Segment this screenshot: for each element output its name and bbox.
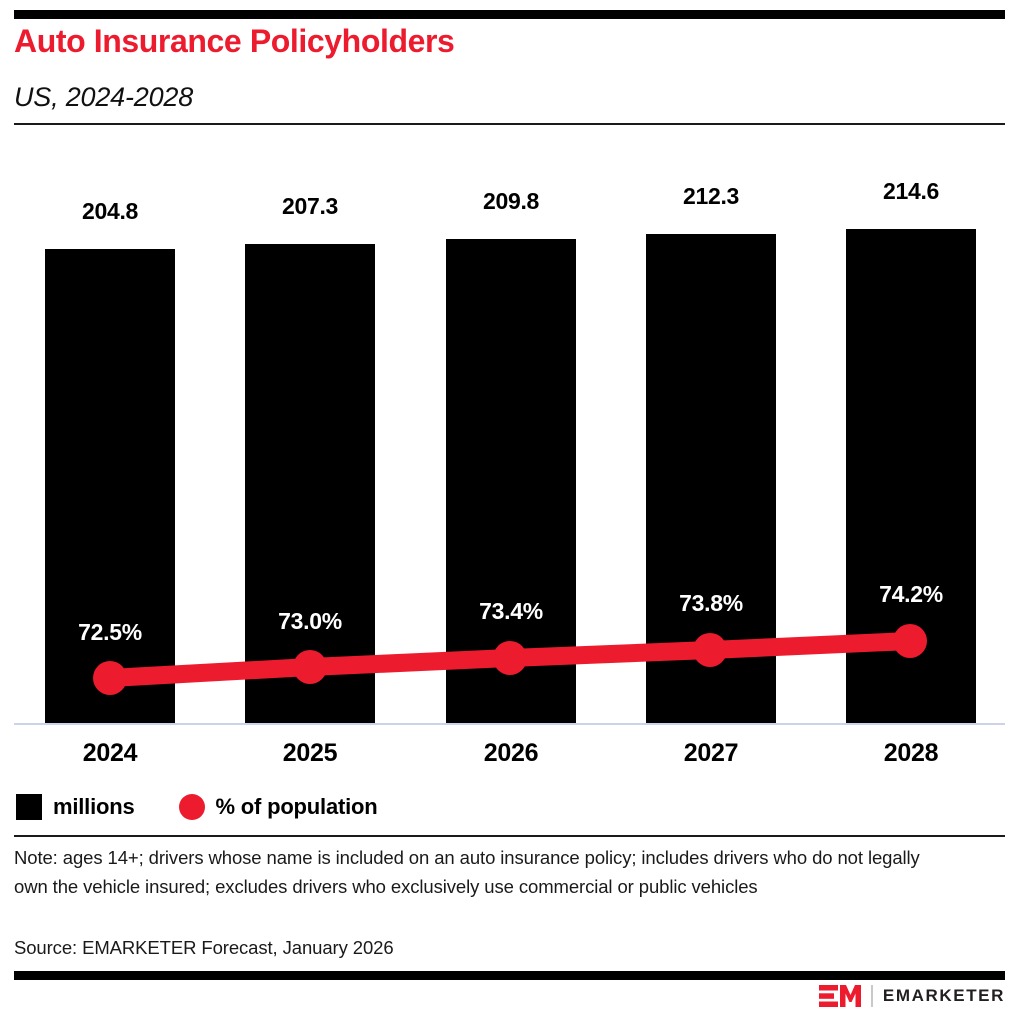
bar-value-label: 204.8 [45, 198, 175, 225]
black-square-icon [16, 794, 42, 820]
brand-wordmark: EMARKETER [883, 986, 1005, 1006]
legend-label-millions: millions [53, 794, 135, 820]
chart-note: Note: ages 14+; drivers whose name is in… [14, 843, 929, 901]
line-marker [893, 624, 927, 658]
line-marker [93, 661, 127, 695]
x-axis-line [14, 723, 1005, 725]
bar-2028 [846, 229, 976, 724]
line-value-label: 73.8% [646, 590, 776, 617]
line-marker [293, 650, 327, 684]
footnote-divider [14, 835, 1005, 837]
line-marker [693, 633, 727, 667]
x-axis-tick-label: 2028 [846, 739, 976, 768]
bar-value-label: 209.8 [446, 188, 576, 215]
x-axis-tick-label: 2026 [446, 739, 576, 768]
line-marker [493, 641, 527, 675]
red-circle-icon [179, 794, 205, 820]
bar-2024 [45, 249, 175, 724]
bar-value-label: 207.3 [245, 193, 375, 220]
x-axis-tick-label: 2025 [245, 739, 375, 768]
line-path [110, 641, 910, 678]
line-value-label: 73.4% [446, 598, 576, 625]
chart-source: Source: EMARKETER Forecast, January 2026 [14, 933, 394, 962]
top-divider [14, 10, 1005, 19]
em-monogram-icon [819, 984, 861, 1008]
legend-item-millions: millions [16, 794, 135, 820]
line-value-label: 74.2% [846, 581, 976, 608]
x-axis-tick-label: 2024 [45, 739, 175, 768]
line-value-label: 73.0% [245, 608, 375, 635]
emarketer-logo: EMARKETER [819, 983, 1005, 1009]
bar-2026 [446, 239, 576, 724]
chart-page: Auto Insurance Policyholders US, 2024-20… [0, 0, 1020, 1016]
legend-label-percent-of-population: % of population [216, 794, 378, 820]
bar-2027 [646, 234, 776, 724]
x-axis-tick-label: 2027 [646, 739, 776, 768]
logo-divider [871, 985, 873, 1007]
chart-legend: millions % of population [16, 790, 422, 824]
page-title: Auto Insurance Policyholders [14, 24, 454, 59]
bar-2025 [245, 244, 375, 724]
bottom-divider [14, 971, 1005, 980]
header-divider [14, 123, 1005, 125]
line-value-label: 72.5% [45, 619, 175, 646]
bar-value-label: 212.3 [646, 183, 776, 210]
bar-value-label: 214.6 [846, 178, 976, 205]
legend-item-percent-of-population: % of population [179, 794, 378, 820]
page-subtitle: US, 2024-2028 [14, 83, 193, 113]
